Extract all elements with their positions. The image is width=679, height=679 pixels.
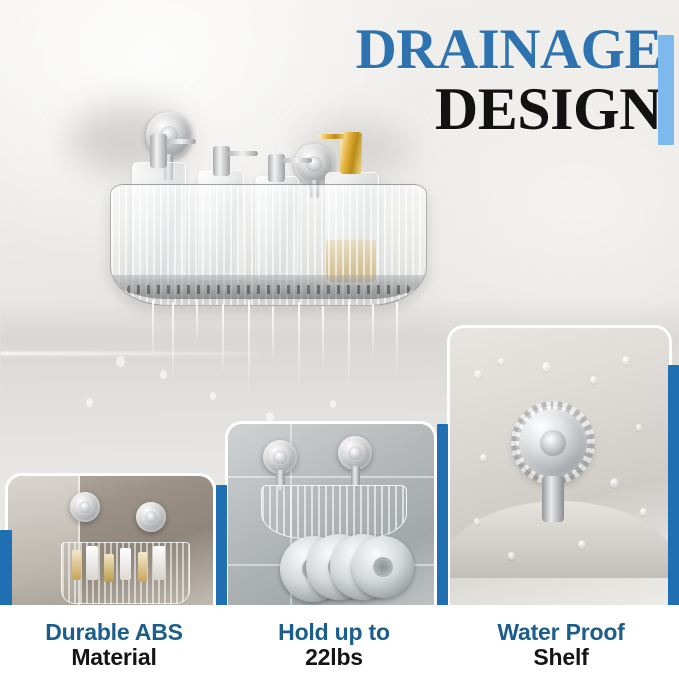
cosmetic-item (138, 552, 147, 582)
water-stream (248, 300, 250, 398)
dispenser-pump (150, 134, 167, 168)
water-droplet (474, 370, 482, 379)
caption-line-1: Hold up to (236, 620, 432, 646)
caption-line-1: Water Proof (456, 620, 666, 646)
water-droplet (542, 362, 551, 372)
water-droplet (590, 376, 597, 384)
suction-cup-petals (511, 401, 595, 485)
suction-mount-icon (263, 440, 297, 474)
panel-photo (228, 424, 434, 626)
water-stream (272, 306, 274, 364)
panel-photo (450, 328, 669, 626)
headline-line-1: DRAINAGE (270, 22, 662, 78)
water-stream (372, 304, 374, 358)
caption-line-2: 22lbs (236, 645, 432, 671)
dispenser-pump-arm (166, 139, 196, 144)
water-stream (322, 306, 324, 372)
water-droplet (480, 454, 487, 462)
water-droplet (636, 424, 642, 431)
water-stream (152, 300, 154, 362)
suction-mount-icon (136, 502, 166, 532)
drainage-holes (127, 285, 410, 294)
water-stream (396, 302, 398, 376)
water-stream (172, 302, 174, 382)
dispenser-pump-arm (282, 158, 312, 163)
caption-water-proof: Water Proof Shelf (456, 620, 666, 672)
water-stream (298, 302, 300, 388)
product-marketing-image: DRAINAGE DESIGN (0, 0, 679, 679)
shelf-basket (110, 184, 427, 306)
water-droplet (474, 518, 480, 525)
caption-line-2: Material (14, 645, 214, 671)
headline-accent-bar (658, 35, 674, 145)
water-stream (222, 304, 224, 376)
caption-durable-abs: Durable ABS Material (14, 620, 214, 672)
feature-panel-water-proof (450, 328, 669, 626)
water-stream (196, 300, 198, 346)
cosmetic-item (120, 548, 131, 580)
feature-panel-hold-up-to (228, 424, 434, 626)
panel-photo (8, 476, 213, 626)
counter-edge-highlight (0, 352, 260, 355)
feature-panel-durable-abs (8, 476, 213, 626)
water-droplet (640, 508, 647, 516)
mount-stem (351, 466, 360, 486)
cosmetic-item (72, 550, 81, 580)
dispenser-pump-arm (228, 151, 258, 156)
dispenser-pump (213, 146, 230, 176)
caption-line-2: Shelf (456, 645, 666, 671)
mount-stem (542, 476, 564, 522)
suction-mount-icon (516, 406, 590, 480)
water-droplet (508, 552, 515, 560)
caption-line-1: Durable ABS (14, 620, 214, 646)
water-droplet (86, 398, 93, 407)
clear-shelf (261, 485, 407, 540)
cosmetic-item (153, 546, 165, 580)
water-droplet (578, 540, 586, 549)
water-droplet (330, 400, 336, 408)
tile-grout-line (228, 476, 434, 478)
hero-product-shelf (110, 112, 425, 317)
suction-mount-icon (70, 492, 100, 522)
dispenser-pump-arm-gold (318, 134, 346, 139)
water-stream (348, 300, 350, 392)
water-droplet (160, 370, 167, 379)
cosmetic-item (104, 554, 114, 582)
caption-hold-up-to: Hold up to 22lbs (236, 620, 432, 672)
weight-plate (352, 536, 414, 598)
cosmetic-item (86, 546, 98, 580)
water-droplet (210, 392, 216, 400)
water-droplet (622, 356, 630, 365)
water-droplet (610, 478, 619, 488)
water-droplet (498, 358, 504, 365)
suction-mount-icon (338, 436, 372, 470)
water-droplet (116, 356, 125, 367)
water-droplet (266, 412, 274, 422)
